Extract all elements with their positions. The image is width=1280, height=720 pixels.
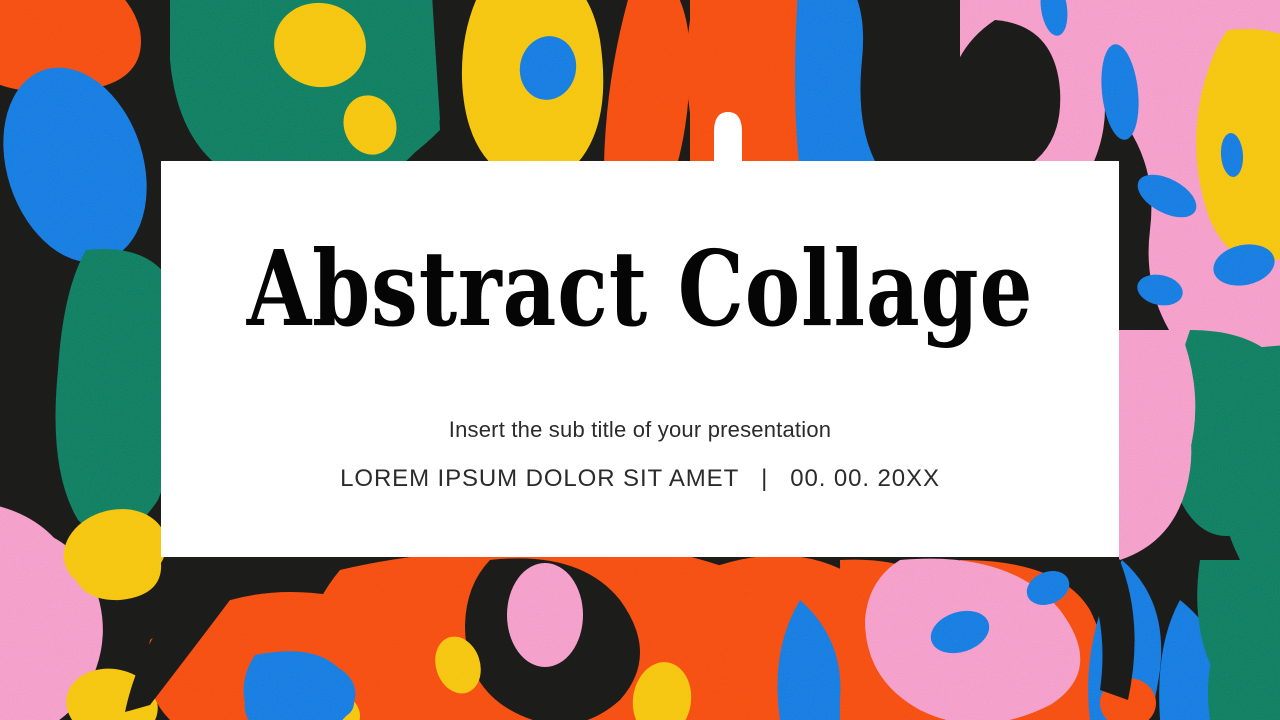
title-card: Abstract Collage Insert the sub title of… xyxy=(161,161,1119,557)
footer-date-text: 00. 00. 20XX xyxy=(790,465,940,493)
page-title: Abstract Collage xyxy=(247,237,1034,341)
footer-left-text: LOREM IPSUM DOLOR SIT AMET xyxy=(340,465,739,493)
footer-separator: | xyxy=(761,465,768,493)
slide-subtitle: Insert the sub title of your presentatio… xyxy=(161,417,1119,443)
presentation-slide: Abstract Collage Insert the sub title of… xyxy=(0,0,1280,720)
slide-footer: LOREM IPSUM DOLOR SIT AMET | 00. 00. 20X… xyxy=(161,465,1119,493)
